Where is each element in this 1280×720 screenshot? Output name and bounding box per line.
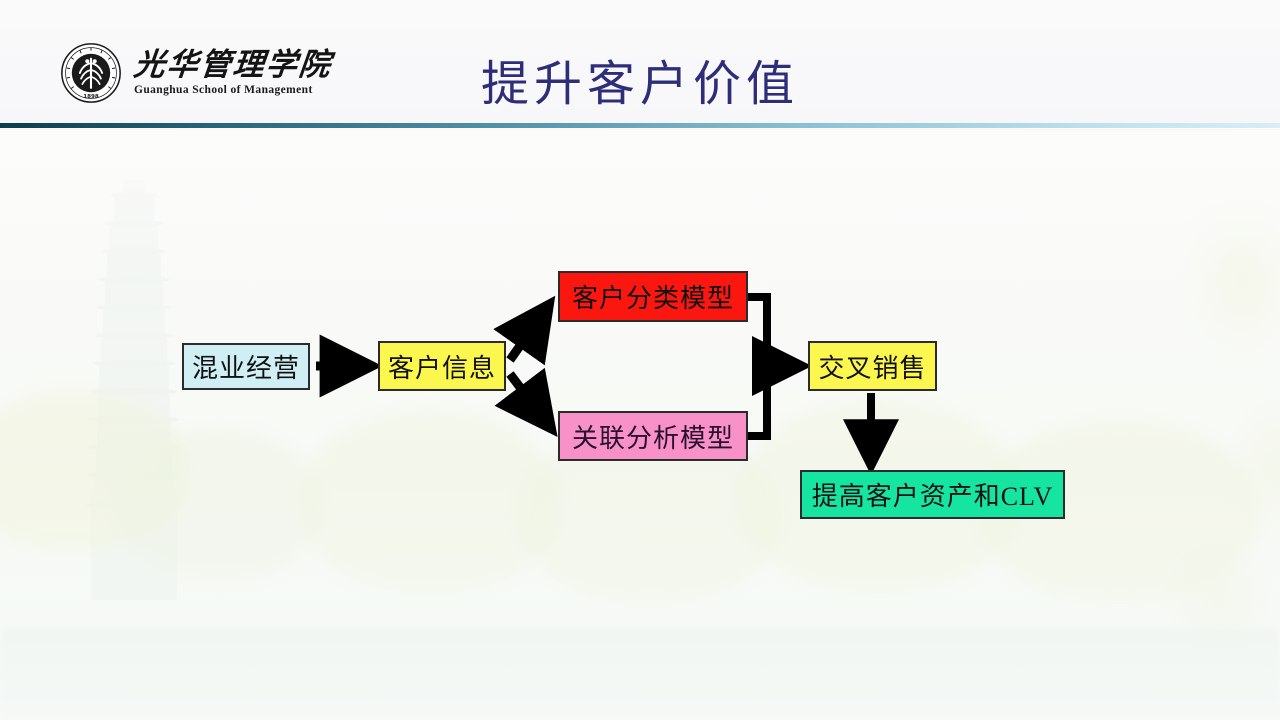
flow-diagram: 混业经营 客户信息 客户分类模型 关联分析模型 交叉销售 提高客户资产和CLV	[0, 0, 1280, 720]
node-cross-selling[interactable]: 交叉销售	[808, 341, 937, 391]
node-label: 客户分类模型	[572, 278, 734, 315]
node-customer-segmentation-model[interactable]: 客户分类模型	[558, 271, 748, 322]
edge-custinfo-to-segment	[510, 306, 548, 360]
node-label: 客户信息	[388, 348, 496, 385]
node-mixed-operation[interactable]: 混业经营	[182, 343, 310, 390]
node-increase-customer-assets-and-clv[interactable]: 提高客户资产和CLV	[800, 470, 1065, 519]
node-association-analysis-model[interactable]: 关联分析模型	[558, 411, 748, 461]
node-label: 关联分析模型	[572, 418, 734, 455]
slide-canvas: 1898 光华管理学院 Guanghua School of Managemen…	[0, 0, 1280, 720]
edge-custinfo-to-assoc	[510, 374, 550, 427]
node-label: 提高客户资产和CLV	[812, 476, 1054, 513]
node-label: 混业经营	[192, 348, 300, 385]
node-label: 交叉销售	[818, 348, 926, 385]
node-customer-information[interactable]: 客户信息	[378, 341, 506, 391]
